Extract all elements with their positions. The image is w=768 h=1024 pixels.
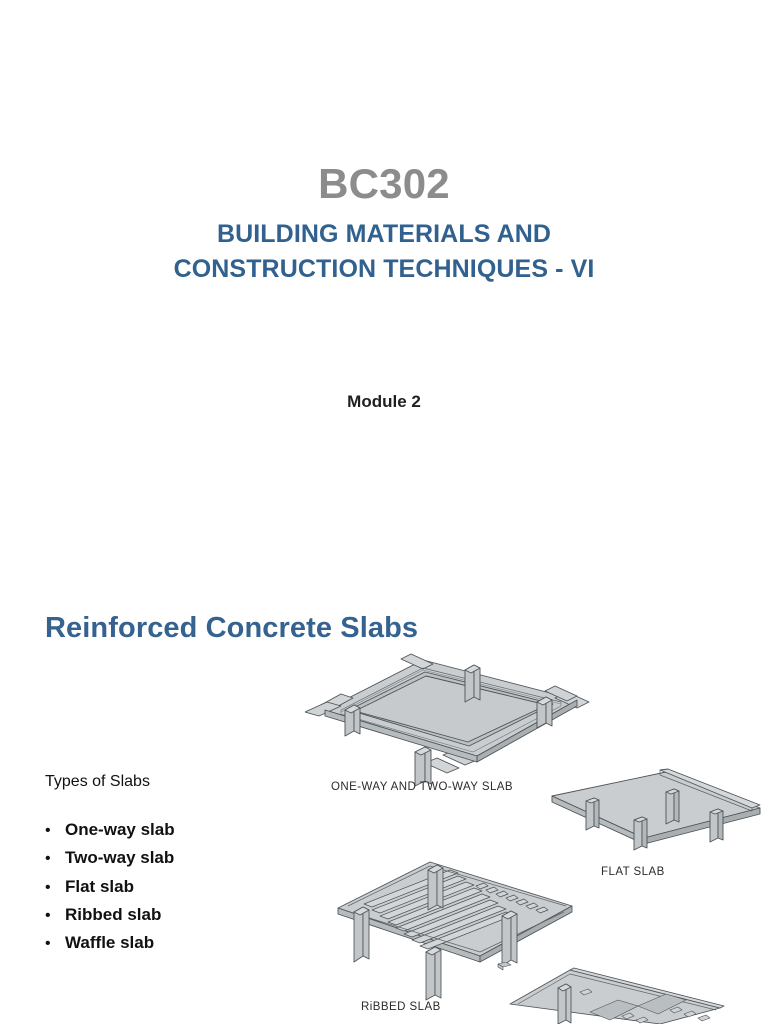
flat-slab-diagram	[548, 768, 764, 866]
waffle-slab-diagram	[470, 962, 768, 1024]
bullet-icon: •	[45, 932, 65, 956]
bullet-icon: •	[45, 819, 65, 843]
list-item: • Waffle slab	[45, 930, 295, 956]
bullet-icon: •	[45, 876, 65, 900]
course-name-line2: CONSTRUCTION TECHNIQUES - VI	[0, 252, 768, 287]
course-code: BC302	[0, 160, 768, 207]
list-item: • One-way slab	[45, 817, 295, 843]
list-item-label: Flat slab	[65, 874, 134, 900]
one-way-two-way-slab-diagram	[305, 652, 595, 787]
list-item: • Flat slab	[45, 874, 295, 900]
bullet-icon: •	[45, 904, 65, 928]
list-title: Types of Slabs	[45, 773, 295, 791]
list-item-label: Two-way slab	[65, 845, 174, 871]
bullet-icon: •	[45, 847, 65, 871]
figure-caption-ribbed-slab: RiBBED SLAB	[361, 1001, 441, 1013]
ribbed-slab-diagram	[330, 856, 580, 1001]
course-name: BUILDING MATERIALS AND CONSTRUCTION TECH…	[0, 217, 768, 286]
list-item: • Ribbed slab	[45, 902, 295, 928]
list-item: • Two-way slab	[45, 845, 295, 871]
list-item-label: Ribbed slab	[65, 902, 161, 928]
figure-caption-flat-slab: FLAT SLAB	[601, 866, 665, 878]
title-block: BC302 BUILDING MATERIALS AND CONSTRUCTIO…	[0, 160, 768, 286]
list-item-label: One-way slab	[65, 817, 175, 843]
slide-canvas: BC302 BUILDING MATERIALS AND CONSTRUCTIO…	[0, 0, 768, 1024]
module-label: Module 2	[0, 392, 768, 412]
slab-types-list: Types of Slabs • One-way slab • Two-way …	[45, 773, 295, 959]
page-title: Reinforced Concrete Slabs	[45, 612, 418, 645]
figure-caption-one-way-two-way: ONE-WAY AND TWO-WAY SLAB	[331, 781, 513, 793]
list-item-label: Waffle slab	[65, 930, 154, 956]
course-name-line1: BUILDING MATERIALS AND	[0, 217, 768, 252]
